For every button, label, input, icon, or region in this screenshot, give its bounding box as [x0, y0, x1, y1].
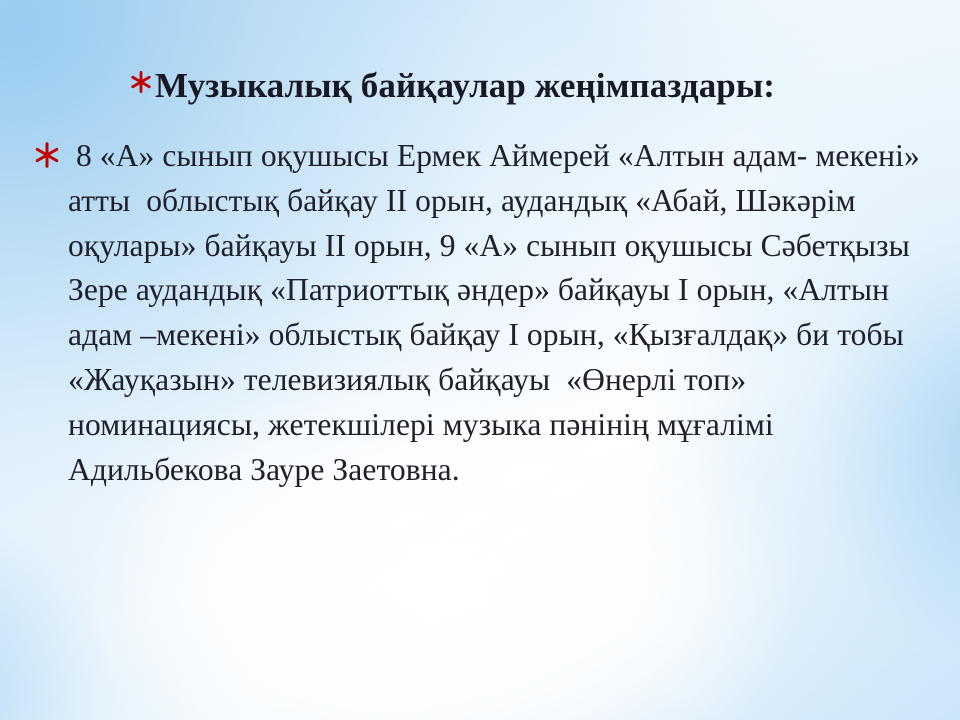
page-title: Музыкалық байқаулар жеңімпаздары:: [155, 66, 775, 105]
slide-canvas: Музыкалық байқаулар жеңімпаздары: 8 «А» …: [0, 0, 960, 720]
asterisk-bullet-icon: [32, 140, 62, 170]
slide-content: Музыкалық байқаулар жеңімпаздары: 8 «А» …: [0, 0, 960, 720]
asterisk-bullet-icon: [128, 69, 154, 95]
body-paragraph: 8 «А» сынып оқушысы Ермек Аймерей «Алтын…: [68, 134, 930, 492]
slide-title-row: Музыкалық байқаулар жеңімпаздары:: [128, 66, 775, 105]
slide-body-row: 8 «А» сынып оқушысы Ермек Аймерей «Алтын…: [32, 134, 932, 492]
